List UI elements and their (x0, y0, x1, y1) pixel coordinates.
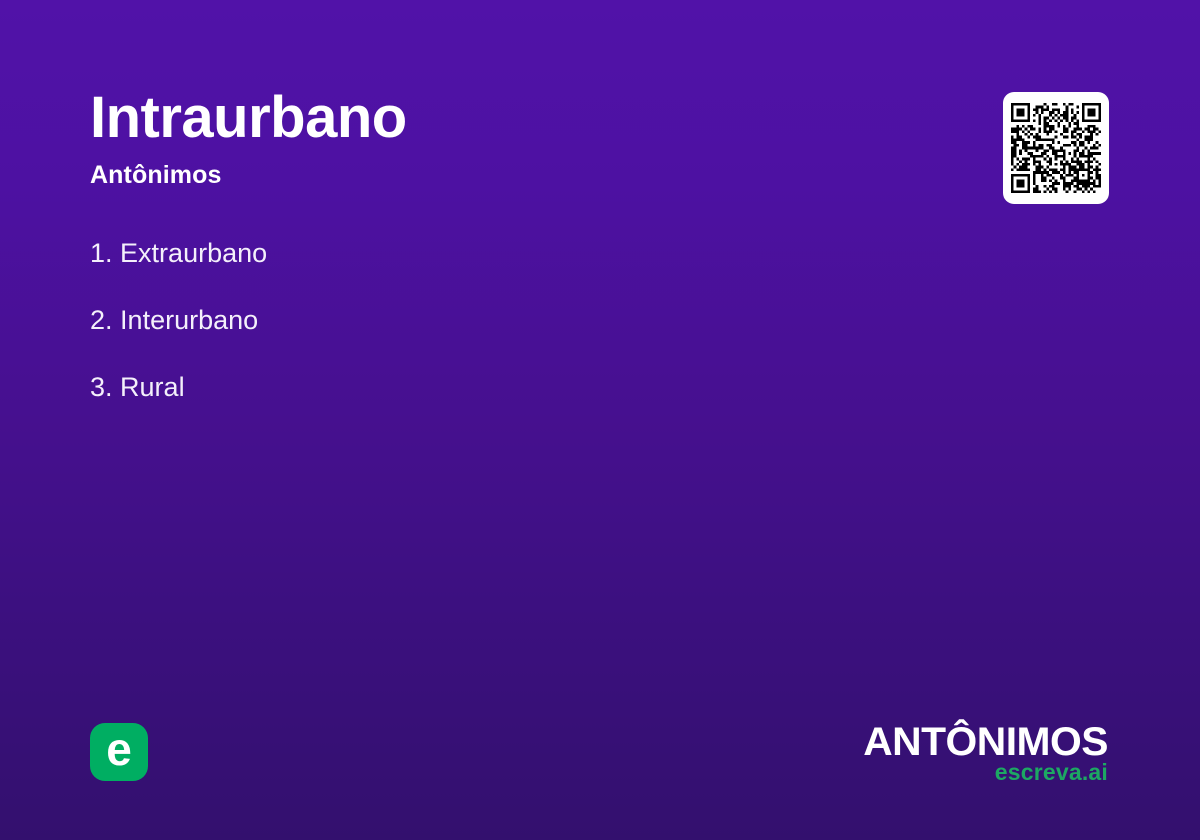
brand-mark-letter: e (106, 726, 132, 772)
brand-wordmark: ANTÔNIMOS escreva.ai (868, 722, 1108, 784)
antonyms-list: 1. Extraurbano 2. Interurbano 3. Rural (90, 236, 890, 437)
page-title: Intraurbano (90, 86, 910, 150)
list-item-index: 1. (90, 238, 113, 268)
list-item-index: 2. (90, 305, 113, 335)
antonyms-card: Intraurbano Antônimos 1. Extraurbano 2. … (0, 0, 1200, 840)
list-item-term: Interurbano (120, 305, 258, 335)
qr-code-card[interactable] (1003, 92, 1109, 204)
list-item: 1. Extraurbano (90, 236, 890, 270)
list-item-term: Rural (120, 372, 185, 402)
brand-wordmark-title: ANTÔNIMOS (863, 722, 1108, 762)
list-item: 3. Rural (90, 370, 890, 404)
headline-block: Intraurbano Antônimos (90, 86, 910, 190)
list-item-term: Extraurbano (120, 238, 267, 268)
section-label: Antônimos (90, 160, 910, 190)
list-item: 2. Interurbano (90, 303, 890, 337)
qr-code-icon (1011, 103, 1101, 193)
list-item-index: 3. (90, 372, 113, 402)
escreva-logo-mark[interactable]: e (90, 723, 148, 781)
